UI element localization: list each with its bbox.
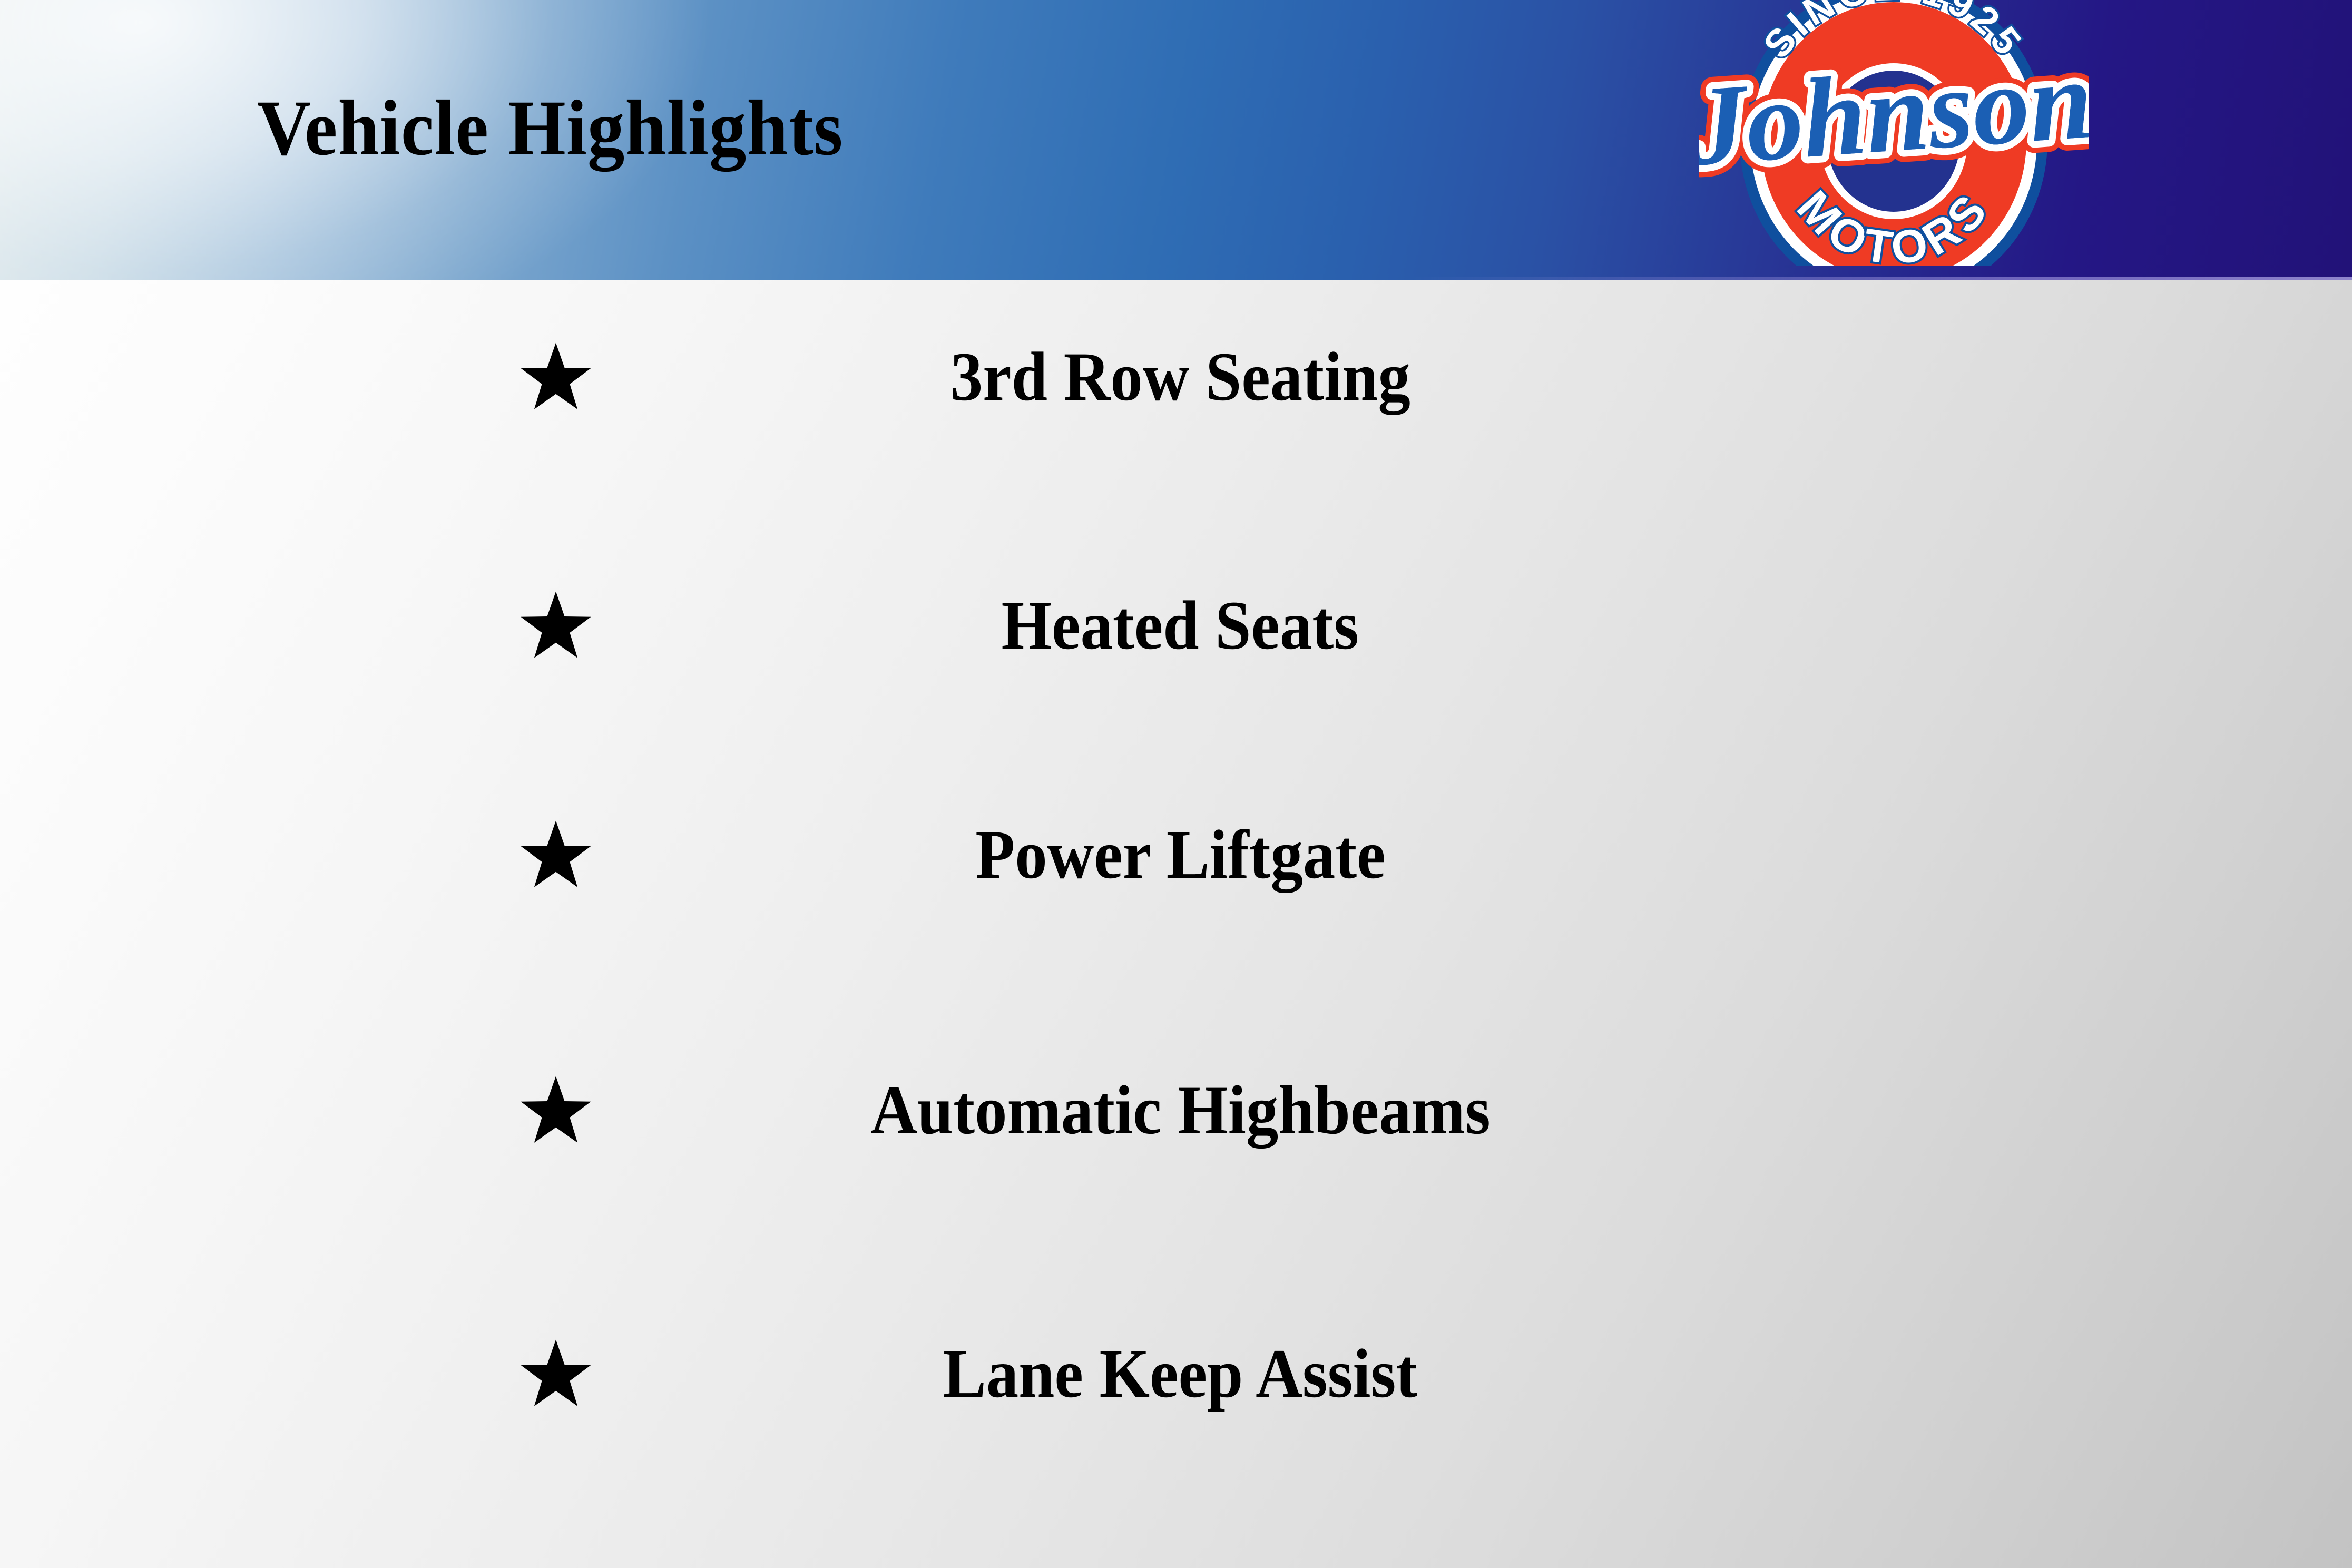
page-title: Vehicle Highlights — [257, 89, 843, 168]
star-icon — [519, 815, 593, 894]
highlight-row: Automatic Highbeams — [0, 1065, 2352, 1155]
highlight-label-text: Power Liftgate — [975, 810, 1385, 899]
highlight-row: 3rd Row Seating — [0, 332, 2352, 422]
vehicle-highlights-list: 3rd Row Seating Heated Seats Power Liftg… — [0, 280, 2352, 1568]
highlight-label-text: 3rd Row Seating — [950, 332, 1410, 422]
highlight-label: Heated Seats — [653, 581, 1707, 670]
highlight-label: Lane Keep Assist — [653, 1329, 1707, 1418]
highlight-row: Heated Seats — [0, 581, 2352, 670]
highlight-label-text: Automatic Highbeams — [870, 1065, 1490, 1155]
highlight-label: Automatic Highbeams — [653, 1065, 1707, 1155]
highlight-label-text: Lane Keep Assist — [943, 1329, 1417, 1418]
highlight-row: Power Liftgate — [0, 810, 2352, 899]
star-icon — [519, 337, 593, 416]
slide-canvas: Vehicle Highlights SINCE 1925 MO — [0, 0, 2352, 1568]
highlight-row: Lane Keep Assist — [0, 1329, 2352, 1418]
star-icon — [519, 1071, 593, 1150]
star-icon — [519, 586, 593, 665]
highlight-label-text: Heated Seats — [1002, 581, 1359, 670]
highlight-label: 3rd Row Seating — [653, 332, 1707, 422]
johnson-motors-logo: SINCE 1925 MOTORS Johnson Johnson Johnso… — [1699, 0, 2089, 266]
star-icon — [519, 1334, 593, 1413]
highlight-label: Power Liftgate — [653, 810, 1707, 899]
